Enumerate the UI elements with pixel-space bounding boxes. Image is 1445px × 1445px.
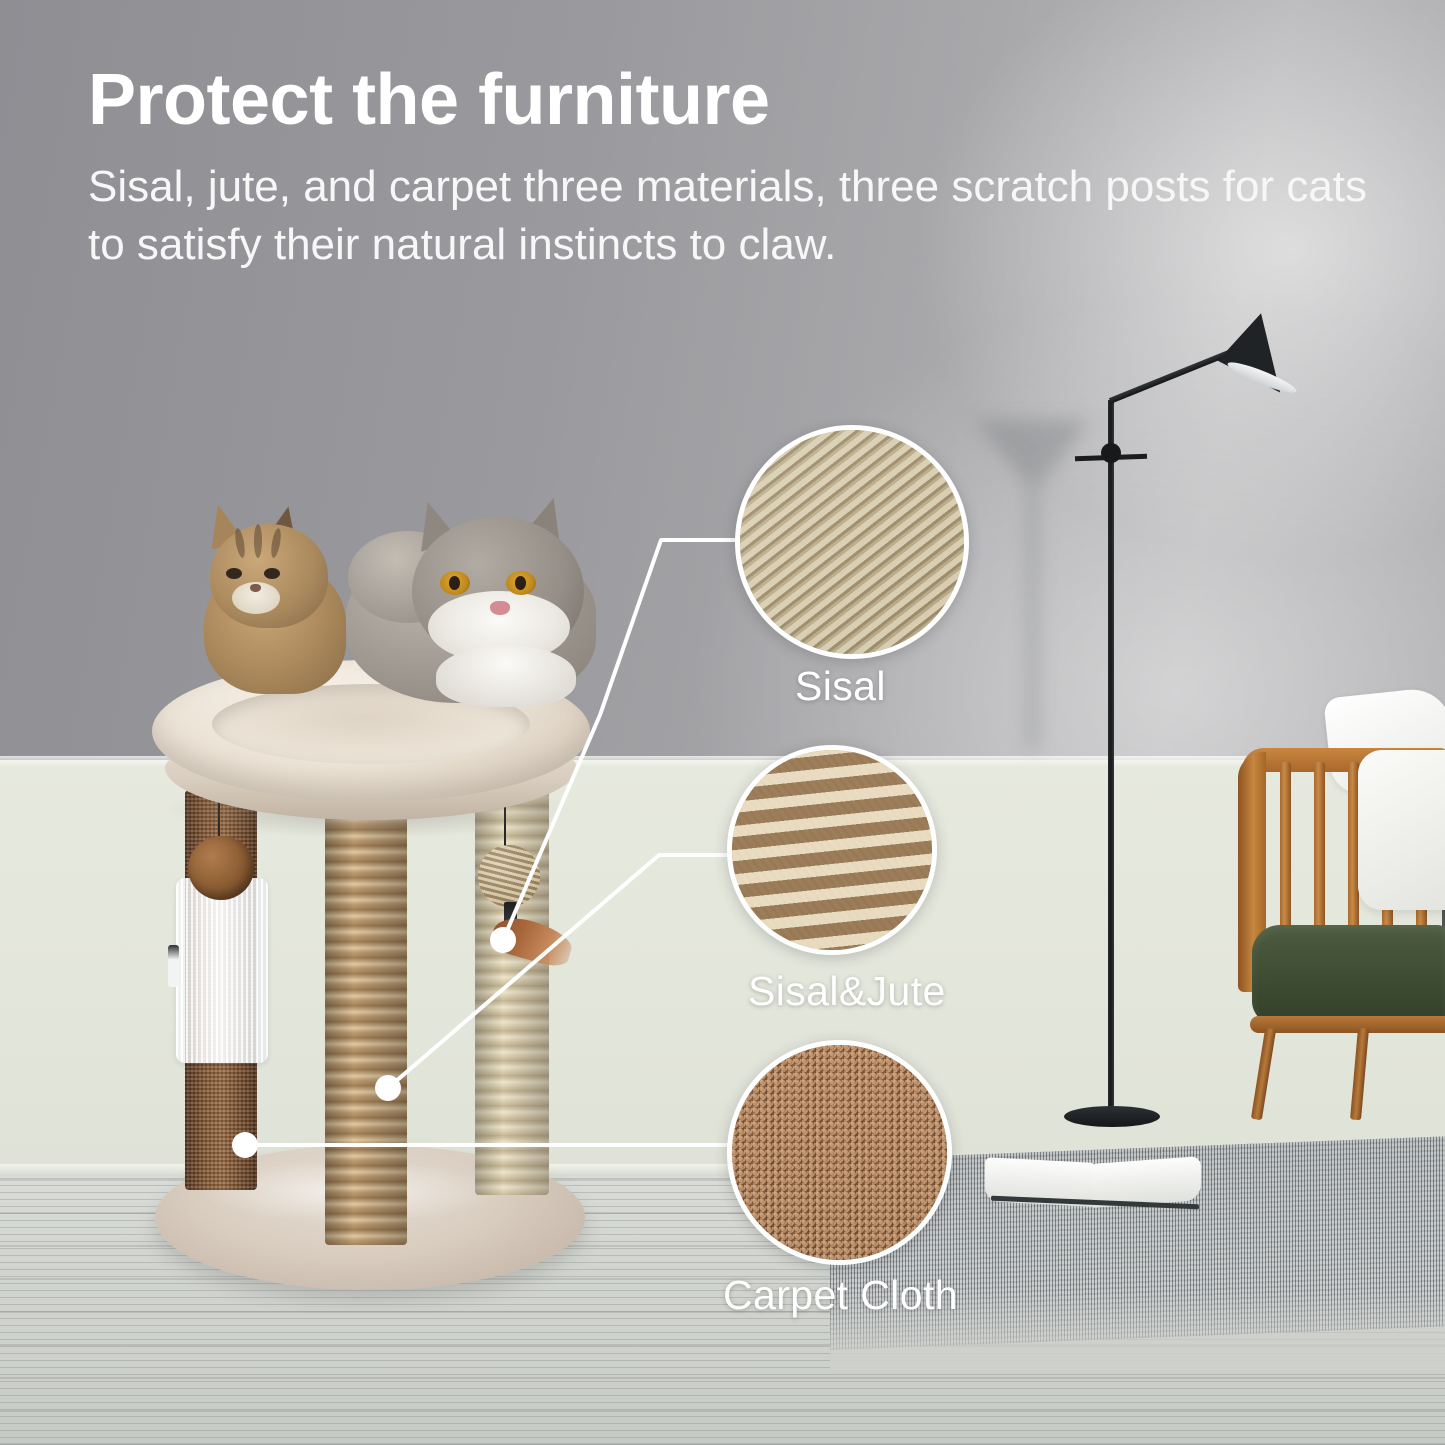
swatch-label-carpet-cloth: Carpet Cloth bbox=[723, 1272, 958, 1319]
brown-pom-pom-toy bbox=[188, 836, 254, 900]
wooden-armchair bbox=[1228, 690, 1445, 1110]
floor-lamp-pole bbox=[1108, 400, 1114, 1115]
right-post-sisal bbox=[475, 780, 549, 1195]
cat-eye-right bbox=[506, 571, 536, 595]
swatch-carpet-cloth bbox=[727, 1040, 952, 1265]
swatch-sisal-jute bbox=[727, 745, 937, 955]
white-pillow-seat bbox=[1358, 750, 1445, 910]
golden-tabby-kitten bbox=[192, 510, 362, 695]
chair-leg-back bbox=[1350, 1028, 1369, 1121]
cat-nose bbox=[490, 601, 510, 615]
cat-scratching-tree bbox=[140, 640, 610, 1300]
open-book bbox=[985, 1160, 1205, 1222]
swatch-label-sisal-jute: Sisal&Jute bbox=[748, 968, 946, 1015]
floor-lamp-base bbox=[1064, 1106, 1160, 1127]
page-title: Protect the furniture bbox=[88, 62, 1388, 140]
groomer-clip bbox=[168, 945, 179, 987]
lamp-wall-shadow bbox=[975, 420, 1095, 750]
british-shorthair-cat bbox=[340, 495, 605, 710]
self-groomer-brush bbox=[176, 878, 268, 1063]
kitten-nose bbox=[250, 584, 261, 592]
page-subtitle: Sisal, jute, and carpet three materials,… bbox=[88, 158, 1378, 274]
sisal-ball-toy bbox=[478, 845, 540, 907]
middle-post-sisal-jute bbox=[325, 785, 407, 1245]
cat-eye-left bbox=[440, 571, 470, 595]
swatch-label-sisal: Sisal bbox=[795, 663, 886, 710]
kitten-eye-right bbox=[264, 568, 280, 579]
chair-seat-rail bbox=[1250, 1016, 1445, 1033]
chair-leg-front bbox=[1251, 1028, 1276, 1121]
kitten-eye-left bbox=[226, 568, 242, 579]
green-seat-cushion bbox=[1252, 925, 1445, 1025]
floor-lamp-joint bbox=[1101, 443, 1121, 463]
swatch-sisal bbox=[735, 425, 969, 659]
headline-block: Protect the furniture Sisal, jute, and c… bbox=[88, 62, 1388, 274]
product-feature-image: Sisal Sisal&Jute Carpet Cloth Protect th… bbox=[0, 0, 1445, 1445]
